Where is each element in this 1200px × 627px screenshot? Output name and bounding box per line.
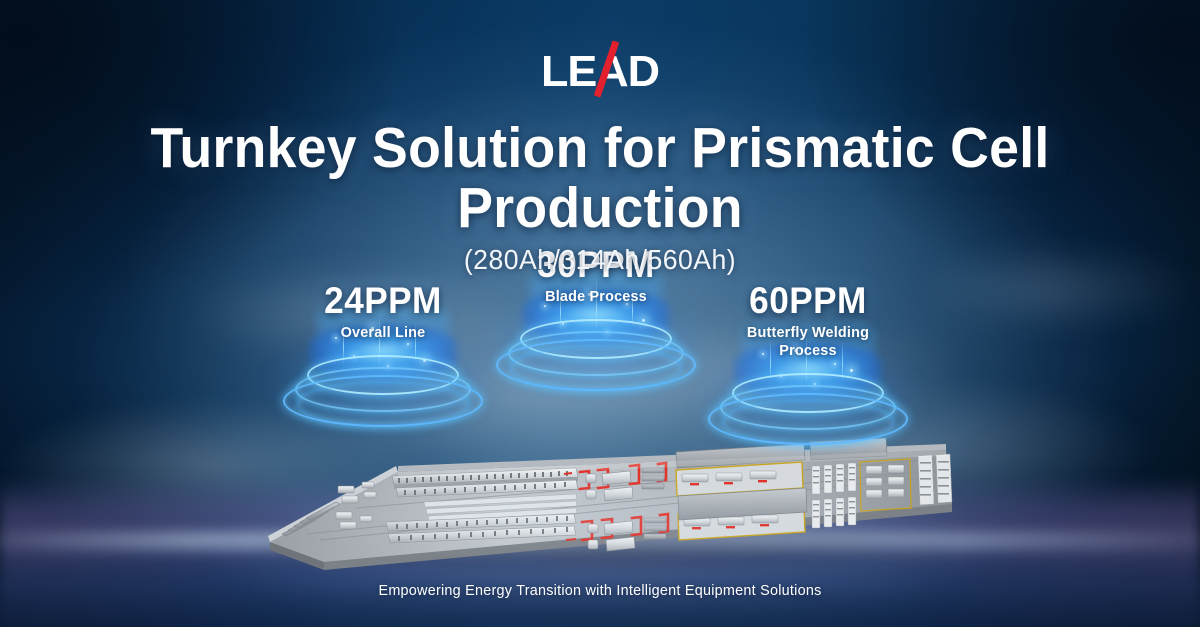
page-subtitle: (280Ah/314Ah/560Ah): [30, 244, 1170, 276]
stat-butterfly-welding: 60PPM Butterfly Welding Process: [693, 281, 923, 360]
footer-tagline: Empowering Energy Transition with Intell…: [24, 581, 1176, 600]
stat-label: Butterfly Welding Process: [698, 324, 919, 360]
podium-ring: [283, 375, 483, 427]
logo-mark: LEAD: [541, 44, 659, 96]
stat-value: 24PPM: [274, 281, 493, 321]
poster-canvas: LEAD Turnkey Solution for Prismatic Cell…: [0, 0, 1200, 627]
podium-ring: [496, 339, 696, 391]
stat-value: 60PPM: [699, 281, 918, 321]
page-title: Turnkey Solution for Prismatic Cell Prod…: [36, 118, 1164, 238]
stat-label: Blade Process: [486, 288, 707, 306]
podium-ring: [708, 393, 908, 445]
footer: Empowering Energy Transition with Intell…: [0, 581, 1200, 600]
stat-text-3: 60PPM Butterfly Welding Process: [693, 281, 923, 360]
stat-overall-line: 24PPM Overall Line: [268, 281, 498, 342]
stat-label: Overall Line: [273, 324, 494, 342]
title-block: Turnkey Solution for Prismatic Cell Prod…: [0, 118, 1200, 276]
stat-text-1: 24PPM Overall Line: [268, 281, 498, 342]
brand-logo: LEAD: [0, 44, 1200, 96]
